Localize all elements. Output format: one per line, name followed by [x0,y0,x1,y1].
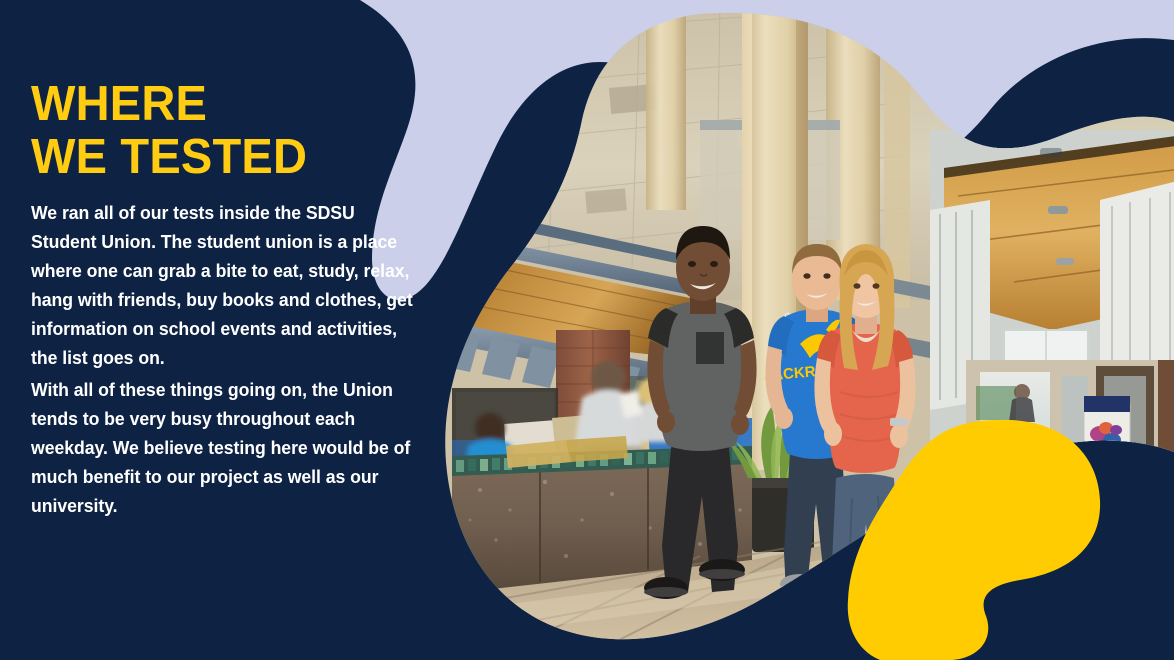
slide-root: JACKRABBITS [0,0,1174,660]
body-paragraph-1: We ran all of our tests inside the SDSU … [31,198,424,372]
body-paragraph-2: With all of these things going on, the U… [31,375,424,520]
page-title: WHERE WE TESTED [31,78,307,184]
text-column: WHERE WE TESTED We ran all of our tests … [31,0,451,660]
